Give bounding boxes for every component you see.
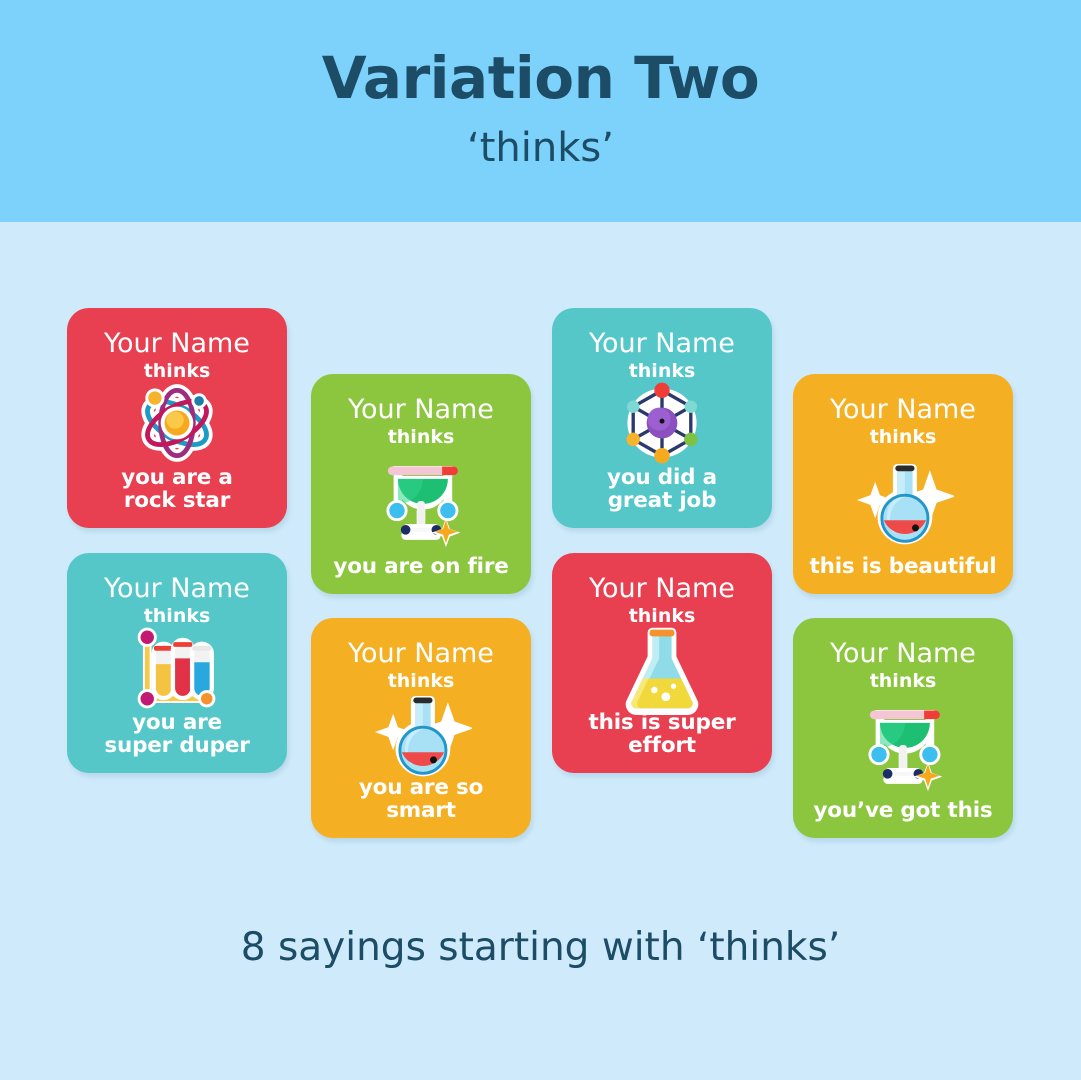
sticker-card[interactable]: Your Namethinks you did agreat job	[552, 308, 772, 528]
sticker-card[interactable]: Your Namethinks you’ve got this	[793, 618, 1013, 838]
page-subtitle: ‘thinks’	[0, 109, 1081, 169]
sticker-phrase-line: this is beautiful	[810, 555, 997, 578]
sticker-phrase-line: you did a	[607, 466, 717, 489]
sticker-phrase: this is beautiful	[810, 555, 997, 578]
retort-stand-flask-icon	[319, 447, 523, 555]
sticker-verb: thinks	[388, 428, 455, 447]
sticker-phrase: this is supereffort	[589, 711, 736, 757]
sticker-phrase-line: you are on fire	[333, 555, 508, 578]
sticker-phrase-line: you are so	[359, 776, 483, 799]
header-band: Variation Two ‘thinks’	[0, 0, 1081, 222]
sticker-phrase: you are arock star	[121, 466, 232, 512]
sticker-phrase-line: great job	[607, 489, 717, 512]
sticker-name: Your Name	[589, 330, 735, 357]
sticker-phrase-line: rock star	[121, 489, 232, 512]
sticker-phrase: you are on fire	[333, 555, 508, 578]
sticker-phrase-line: super duper	[104, 734, 249, 757]
sticker-card[interactable]: Your Namethinks you are arock star	[67, 308, 287, 528]
footer-caption: 8 sayings starting with ‘thinks’	[0, 925, 1081, 970]
sticker-phrase-line: this is super	[589, 711, 736, 734]
sticker-card[interactable]: Your Namethinks this is supereffort	[552, 553, 772, 773]
sparkle-flask-icon	[852, 453, 954, 549]
sticker-phrase: you did agreat job	[607, 466, 717, 512]
sticker-name: Your Name	[830, 640, 976, 667]
sticker-name: Your Name	[589, 575, 735, 602]
molecule-icon	[560, 381, 764, 466]
sticker-phrase: you aresuper duper	[104, 711, 249, 757]
sticker-verb: thinks	[870, 672, 937, 691]
sticker-name: Your Name	[348, 640, 494, 667]
page-title: Variation Two	[0, 0, 1081, 109]
sticker-phrase-line: smart	[359, 799, 483, 822]
sticker-phrase-line: effort	[589, 734, 736, 757]
retort-stand-flask-icon	[371, 453, 471, 549]
sparkle-flask-icon	[370, 685, 472, 781]
atom-icon	[75, 381, 279, 466]
molecule-icon	[614, 375, 710, 471]
sticker-name: Your Name	[830, 396, 976, 423]
sticker-name: Your Name	[104, 330, 250, 357]
erlenmeyer-flask-icon	[616, 619, 708, 717]
test-tube-rack-icon	[75, 626, 279, 711]
erlenmeyer-flask-icon	[560, 626, 764, 711]
retort-stand-flask-icon	[801, 691, 1005, 799]
sticker-phrase-line: you are	[104, 711, 249, 734]
retort-stand-flask-icon	[853, 697, 953, 793]
sticker-phrase-line: you are a	[121, 466, 232, 489]
test-tube-rack-icon	[126, 620, 228, 716]
atom-icon	[129, 375, 225, 471]
sticker-phrase-line: you’ve got this	[813, 799, 992, 822]
sticker-name: Your Name	[348, 396, 494, 423]
sticker-card[interactable]: Your Namethinks you are on fire	[311, 374, 531, 594]
sticker-verb: thinks	[870, 428, 937, 447]
sticker-card[interactable]: Your Namethinks you aresuper	[67, 553, 287, 773]
sticker-name: Your Name	[104, 575, 250, 602]
sticker-phrase: you are sosmart	[359, 776, 483, 822]
sticker-phrase: you’ve got this	[813, 799, 992, 822]
sticker-card[interactable]: Your Namethinks you are sosmart	[311, 618, 531, 838]
sparkle-flask-icon	[801, 447, 1005, 555]
sticker-grid: Your Namethinks you are arock starYour N…	[0, 222, 1081, 902]
sticker-card[interactable]: Your Namethinks this is beautiful	[793, 374, 1013, 594]
sparkle-flask-icon	[319, 691, 523, 776]
